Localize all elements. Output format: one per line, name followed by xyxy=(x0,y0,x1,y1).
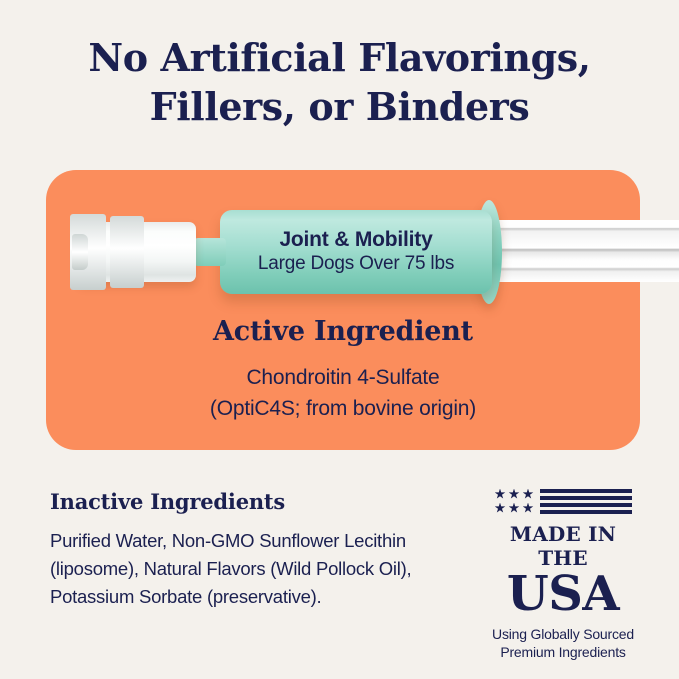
headline-line-2: Fillers, or Binders xyxy=(0,83,679,132)
headline-line-1: No Artificial Flavorings, xyxy=(88,35,590,80)
active-ingredient-line-1: Chondroitin 4-Sulfate xyxy=(46,363,640,394)
flag-icon xyxy=(487,487,639,515)
cap-tip xyxy=(72,234,88,270)
star-icon xyxy=(495,503,506,514)
page-headline: No Artificial Flavorings, Fillers, or Bi… xyxy=(0,34,679,131)
active-ingredient-block: Active Ingredient Chondroitin 4-Sulfate … xyxy=(46,316,640,425)
syringe-label-subtitle: Large Dogs Over 75 lbs xyxy=(258,253,454,275)
star-icon xyxy=(523,489,534,500)
syringe-luer-cap xyxy=(70,214,200,290)
active-ingredient-title: Active Ingredient xyxy=(46,316,640,347)
active-ingredient-line-2: (OptiC4S; from bovine origin) xyxy=(46,394,640,425)
inactive-ingredients-title: Inactive Ingredients xyxy=(50,489,450,514)
infographic-page: No Artificial Flavorings, Fillers, or Bi… xyxy=(0,0,679,679)
stripe xyxy=(540,503,632,507)
syringe-label-title: Joint & Mobility xyxy=(279,228,432,253)
syringe-plunger-rod xyxy=(492,220,679,282)
star-row xyxy=(495,489,534,500)
syringe-illustration: Joint & Mobility Large Dogs Over 75 lbs xyxy=(62,196,679,308)
cap-ridge-2 xyxy=(110,216,144,288)
active-ingredient-details: Chondroitin 4-Sulfate (OptiC4S; from bov… xyxy=(46,363,640,425)
stripe xyxy=(540,510,632,514)
star-icon xyxy=(509,503,520,514)
syringe-label: Joint & Mobility Large Dogs Over 75 lbs xyxy=(220,210,492,294)
star-row xyxy=(495,503,534,514)
usa-caption-line-1: Using Globally Sourced xyxy=(487,625,639,643)
made-in-the-text: MADE IN THE xyxy=(487,522,639,570)
star-icon xyxy=(495,489,506,500)
inactive-ingredients-block: Inactive Ingredients Purified Water, Non… xyxy=(50,489,450,610)
syringe-barrel: Joint & Mobility Large Dogs Over 75 lbs xyxy=(220,210,492,294)
usa-caption-line-2: Premium Ingredients xyxy=(487,643,639,661)
stripe xyxy=(540,496,632,500)
star-icon xyxy=(523,503,534,514)
made-in-usa-badge: MADE IN THE USA Using Globally Sourced P… xyxy=(487,487,639,661)
flag-stripes xyxy=(540,489,632,514)
inactive-ingredients-body: Purified Water, Non-GMO Sunflower Lecith… xyxy=(50,527,450,610)
stripe xyxy=(540,489,632,493)
star-icon xyxy=(509,489,520,500)
flag-stars xyxy=(495,489,534,514)
usa-badge-caption: Using Globally Sourced Premium Ingredien… xyxy=(487,625,639,661)
usa-text: USA xyxy=(487,570,639,619)
